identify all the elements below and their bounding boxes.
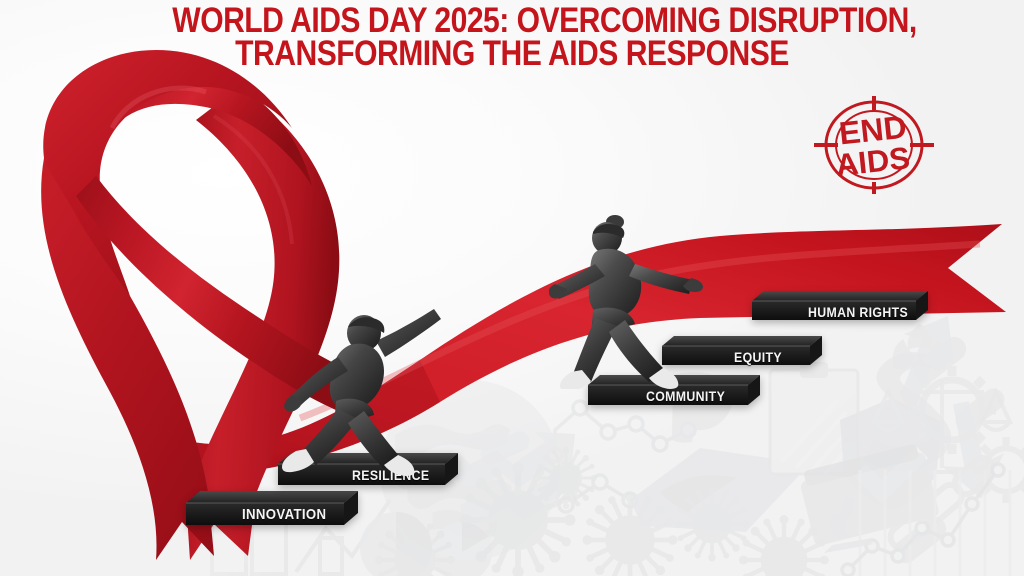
title-line-2: TRANSFORMING THE AIDS RESPONSE [172,37,851,70]
red-swoosh-arrow-icon [0,0,1024,576]
title-line-1: WORLD AIDS DAY 2025: OVERCOMING DISRUPTI… [172,4,851,37]
end-aids-logo-line2: AIDS [834,140,911,183]
figure-climber-1 [278,297,458,482]
step-innovation[interactable]: INNOVATION [186,489,358,531]
step-human-rights[interactable]: HUMAN RIGHTS [752,289,928,326]
end-aids-logo: END AIDS [812,96,936,194]
poster-canvas: WORLD AIDS DAY 2025: OVERCOMING DISRUPTI… [0,0,1024,576]
figure-climber-2 [549,214,743,389]
background-icon-collage [0,0,1024,576]
aids-ribbon-icon [0,0,1024,576]
poster-title: WORLD AIDS DAY 2025: OVERCOMING DISRUPTI… [117,4,907,70]
